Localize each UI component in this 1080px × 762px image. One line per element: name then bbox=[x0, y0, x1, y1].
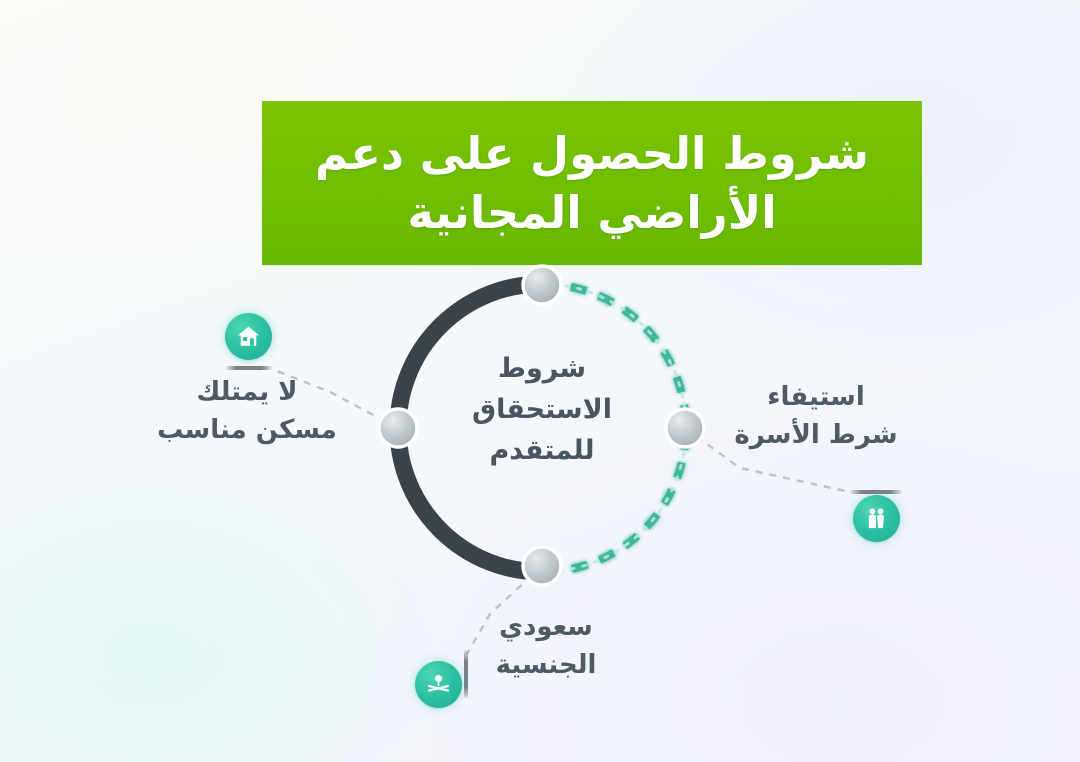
housing-rule bbox=[226, 366, 272, 370]
label-nationality: سعودي الجنسية bbox=[462, 608, 630, 685]
infographic-canvas: شروط الحصول على دعم الأراضي المجانية bbox=[0, 0, 1080, 762]
family-rule bbox=[850, 490, 902, 494]
center-label: شروط الاستحقاق للمتقدم bbox=[452, 348, 632, 471]
node-right bbox=[666, 409, 704, 447]
family-icon bbox=[853, 495, 900, 542]
label-family: استيفاء شرط الأسرة bbox=[716, 378, 916, 455]
node-left bbox=[379, 409, 417, 447]
node-bottom bbox=[523, 547, 561, 585]
node-top bbox=[523, 266, 561, 304]
house-icon bbox=[225, 313, 272, 360]
label-housing: لا يمتلك مسكن مناسب bbox=[134, 373, 360, 450]
saudi-emblem-icon bbox=[415, 661, 462, 708]
